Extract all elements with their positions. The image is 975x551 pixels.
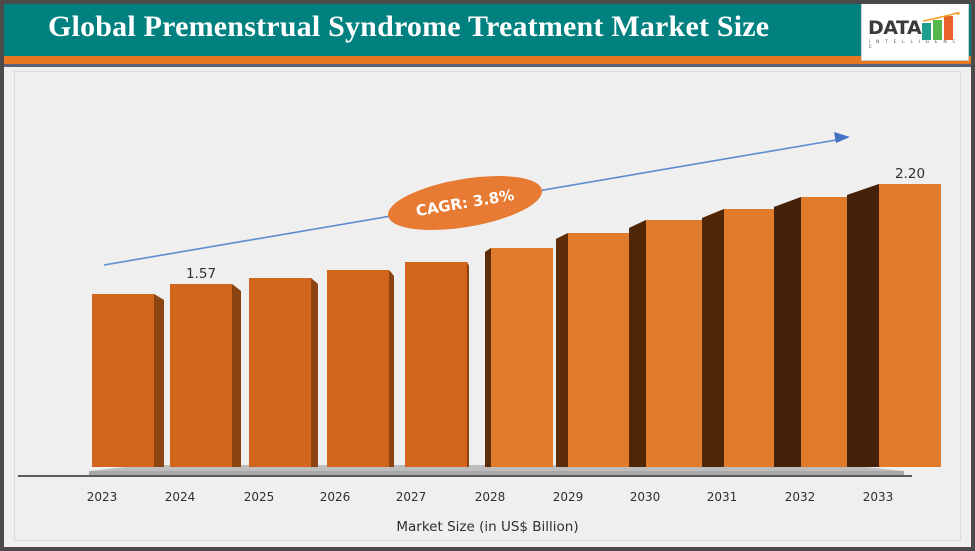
header-accent-shadow [4,64,971,67]
chart-canvas: CAGR: 3.8% 1.57 2.20 2023 2024 2025 2026… [4,67,971,547]
bar-2029 [556,233,630,467]
page-title: Global Premenstrual Syndrome Treatment M… [48,6,888,50]
bar-2026 [327,270,394,467]
x-tick-2033: 2033 [828,490,928,504]
bar-2031 [702,209,786,467]
bar-2028 [485,248,553,467]
logo-inner: DATA I N T E L L I G E N C E [868,12,964,54]
logo-wordmark: DATA [868,17,921,39]
value-label-2033: 2.20 [870,166,950,182]
logo-bars-icon [920,12,964,40]
value-label-2024: 1.57 [161,266,241,282]
bar-2025 [249,278,318,467]
market-size-infographic: Global Premenstrual Syndrome Treatment M… [0,0,975,551]
brand-logo: DATA I N T E L L I G E N C E [861,3,969,61]
cagr-callout-shape [384,166,546,239]
logo-tagline: I N T E L L I G E N C E [869,40,964,50]
bar-chart-graphic [4,67,971,547]
bar-2024 [170,284,241,467]
bar-2027 [405,262,469,467]
x-axis-label: Market Size (in US$ Billion) [4,519,971,535]
chart-floor-front [89,471,904,475]
header-accent-stripe [4,56,971,64]
bar-2030 [629,220,708,467]
bar-2023 [92,294,164,467]
bar-2033 [847,184,941,467]
